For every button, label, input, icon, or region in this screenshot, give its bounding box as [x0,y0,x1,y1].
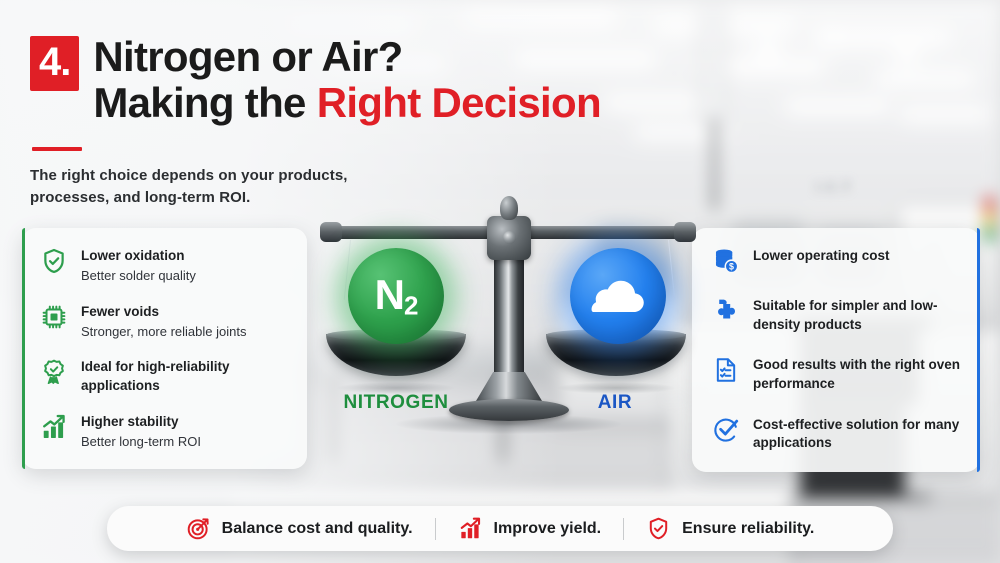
nitrogen-label: NITROGEN [306,392,486,414]
bottom-bar-item-label: Balance cost and quality. [222,520,413,538]
list-item: Ideal for high-reliability applications [40,357,291,395]
bottom-bar-item-reliability: Ensure reliability. [624,516,836,541]
list-item: Fewer voids Stronger, more reliable join… [40,302,291,341]
cloud-icon [587,265,649,327]
nitrogen-formula: N2 [375,274,418,319]
checklist-document-icon [712,356,740,384]
list-item-title: Lower operating cost [753,248,890,263]
subtitle: The right choice depends on your product… [30,165,360,209]
puzzle-piece-icon [712,297,740,325]
air-orb [570,248,666,344]
balance-scale-graphic: N2 NITROGEN AIR [318,196,698,448]
header: 4. Nitrogen or Air? Making the Right Dec… [30,36,650,208]
coin-stack-dollar-icon: $ [712,247,740,275]
svg-text:$: $ [729,262,734,272]
list-item-title: Fewer voids [81,304,159,319]
list-item: Good results with the right oven perform… [712,355,964,393]
bar-chart-up-icon [458,516,483,541]
list-item: $ Lower operating cost [712,246,964,275]
list-item: Cost-effective solution for many applica… [712,415,964,453]
circle-check-icon [712,416,740,444]
list-item-subtitle: Better long-term ROI [81,433,201,451]
list-item: Lower oxidation Better solder quality [40,246,291,285]
list-item-title: Suitable for simpler and low-density pro… [753,298,938,332]
bottom-bar-item-yield: Improve yield. [436,516,624,541]
bottom-summary-bar: Balance cost and quality. Improve yield. [107,506,893,551]
shield-check-icon [40,247,68,275]
infographic-slide: I.C.T I.C.T 4. Nitrogen or Air? Making t… [0,0,1000,563]
bottom-bar-item-balance: Balance cost and quality. [164,516,435,541]
bar-chart-up-icon [40,413,68,441]
bottom-bar-item-label: Improve yield. [494,520,602,538]
award-badge-check-icon [40,358,68,386]
target-icon [186,516,211,541]
list-item-title: Higher stability [81,414,179,429]
list-item: Suitable for simpler and low-density pro… [712,296,964,334]
list-item-subtitle: Stronger, more reliable joints [81,323,246,341]
page-title-line2: Making the Right Decision [93,81,601,125]
list-item-title: Lower oxidation [81,248,185,263]
list-item-title: Ideal for high-reliability applications [81,359,230,393]
list-item-title: Cost-effective solution for many applica… [753,417,959,451]
list-item: Higher stability Better long-term ROI [40,412,291,451]
page-title-line2-accent: Right Decision [317,79,601,126]
page-title-line1: Nitrogen or Air? [93,36,601,79]
list-item-subtitle: Better solder quality [81,267,196,285]
air-label: AIR [525,392,705,414]
nitrogen-orb: N2 [348,248,444,344]
list-item-title: Good results with the right oven perform… [753,357,960,391]
bottom-bar-item-label: Ensure reliability. [682,520,814,538]
air-benefits-card: $ Lower operating cost Suitable for simp… [692,228,980,472]
shield-check-icon [646,516,671,541]
page-title-line2-plain: Making the [93,79,316,126]
microchip-icon [40,303,68,331]
title-divider [32,147,82,151]
nitrogen-benefits-card: Lower oxidation Better solder quality Fe… [22,228,307,469]
section-number-badge: 4. [30,36,79,91]
